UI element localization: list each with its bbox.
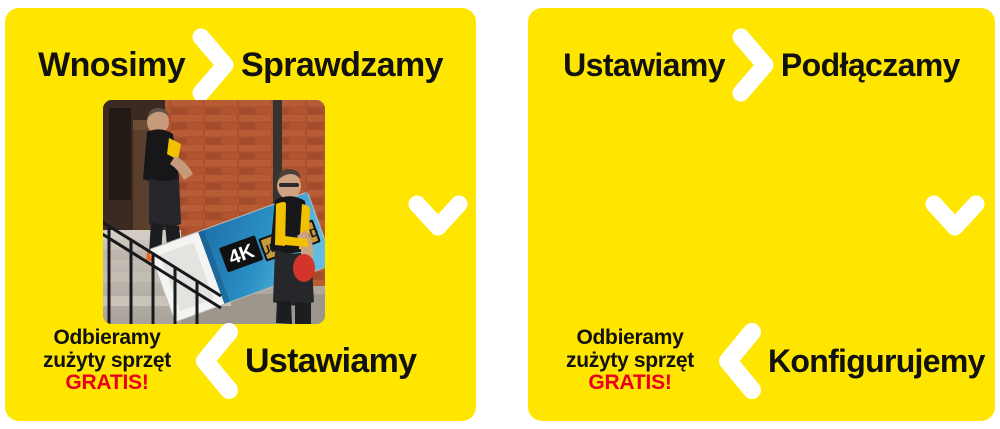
chevron-right-icon — [191, 28, 235, 102]
recycling-line-2: zużyty sprzęt — [27, 350, 187, 373]
top-step-row: Wnosimy Sprawdzamy — [5, 34, 476, 96]
recycling-line-1: Odbieramy — [550, 327, 710, 350]
step-label-podlaczamy: Podłączamy — [781, 49, 960, 81]
photo-couriers-carrying-tv: 4K ULTRA HD — [103, 100, 325, 324]
recycling-free-badge: GRATIS! — [550, 372, 710, 395]
chevron-down-wrap — [408, 194, 468, 238]
delivery-steps-panel-2: Ustawiamy Podłączamy — [528, 8, 995, 421]
bottom-step-row: Odbieramy zużyty sprzęt GRATIS! Ustawiam… — [5, 315, 476, 407]
chevron-down-icon — [925, 194, 985, 238]
step-label-ustawiamy: Ustawiamy — [245, 344, 416, 378]
step-label-wnosimy: Wnosimy — [38, 48, 185, 82]
recycling-note: Odbieramy zużyty sprzęt GRATIS! — [27, 327, 187, 395]
step-label-sprawdzamy: Sprawdzamy — [241, 48, 443, 82]
chevron-left-wrap — [191, 321, 243, 401]
chevron-right-icon — [731, 28, 775, 102]
chevron-left-icon — [191, 321, 243, 401]
recycling-line-2: zużyty sprzęt — [550, 350, 710, 373]
recycling-free-badge: GRATIS! — [27, 372, 187, 395]
chevron-left-icon — [714, 321, 766, 401]
chevron-down-wrap — [925, 194, 985, 238]
promo-banner: Wnosimy Sprawdzamy — [0, 0, 1000, 429]
step-label-konfigurujemy: Konfigurujemy — [768, 345, 985, 377]
step-label-ustawiamy: Ustawiamy — [563, 49, 725, 81]
chevron-left-wrap — [714, 321, 766, 401]
chevron-down-icon — [408, 194, 468, 238]
bottom-step-row: Odbieramy zużyty sprzęt GRATIS! Konfigur… — [528, 315, 995, 407]
recycling-note: Odbieramy zużyty sprzęt GRATIS! — [550, 327, 710, 395]
recycling-line-1: Odbieramy — [27, 327, 187, 350]
delivery-steps-panel-1: Wnosimy Sprawdzamy — [5, 8, 476, 421]
top-step-row: Ustawiamy Podłączamy — [528, 34, 995, 96]
